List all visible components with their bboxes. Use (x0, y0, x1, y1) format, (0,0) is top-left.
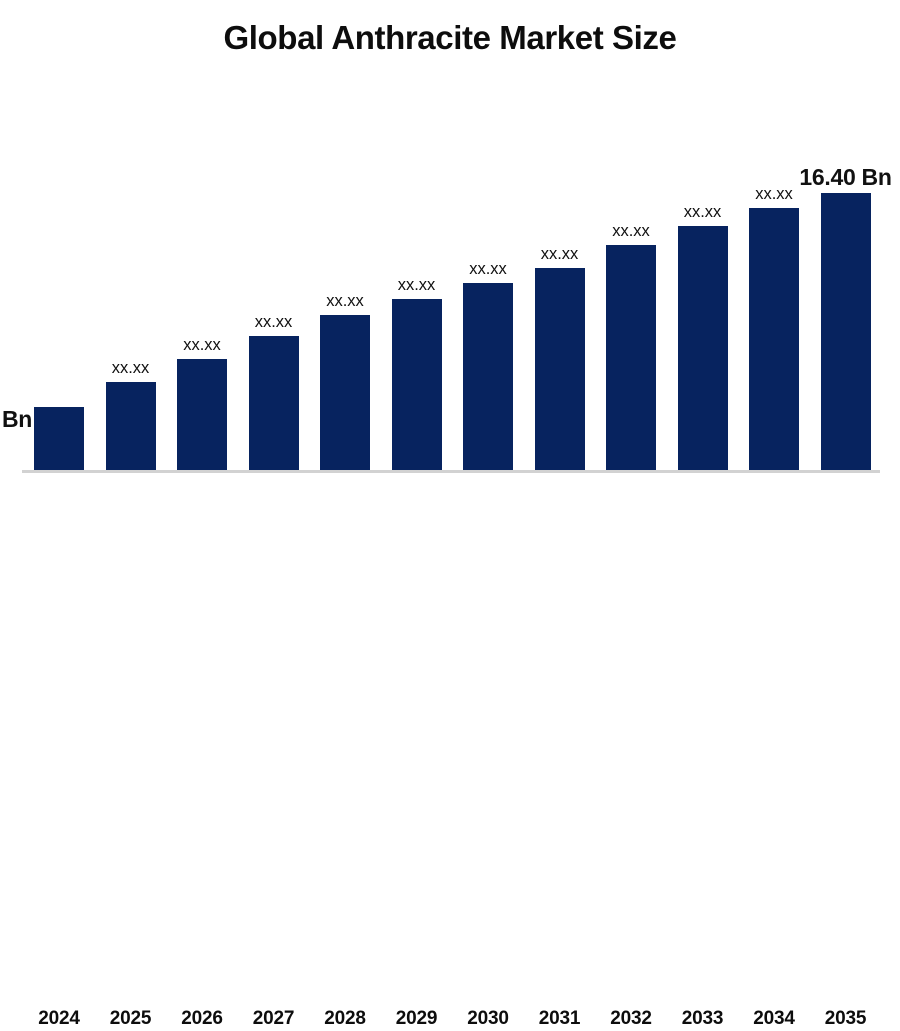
bar[interactable] (106, 382, 156, 470)
bar[interactable] (678, 226, 728, 470)
bar[interactable] (177, 359, 227, 470)
bar[interactable] (249, 336, 299, 470)
bar[interactable] (749, 208, 799, 470)
chart-container: Global Anthracite Market Size 11.50 Bn20… (0, 0, 900, 525)
bar[interactable] (606, 245, 656, 470)
bar[interactable] (463, 283, 513, 470)
x-axis-line (22, 470, 880, 473)
bar[interactable] (392, 299, 442, 470)
bar[interactable] (535, 268, 585, 470)
bar-value-label: 11.50 Bn (0, 409, 32, 429)
bar[interactable] (320, 315, 370, 470)
bar[interactable] (34, 407, 84, 470)
bar[interactable] (821, 193, 871, 470)
x-axis-tick-label: 2035 (791, 1007, 900, 1031)
plot-area: 11.50 Bn2024xx.xx2025xx.xx2026xx.xx2027x… (0, 0, 900, 525)
bar-value-label: 16.40 Bn (776, 167, 900, 187)
